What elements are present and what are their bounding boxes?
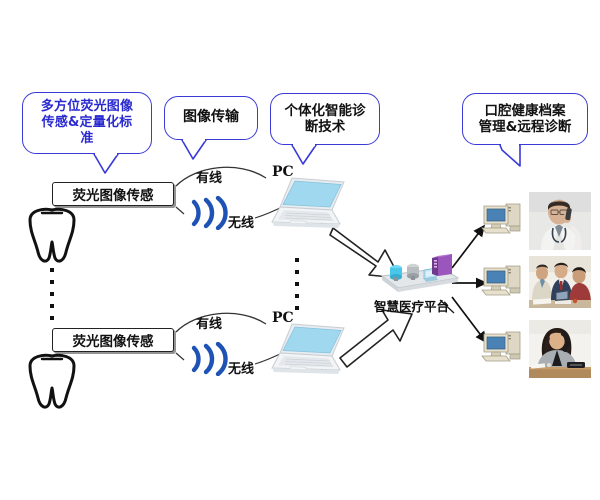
wireless-signal-icon [186, 196, 230, 234]
platform-label: 智慧医疗平台 [374, 296, 449, 315]
callout-line: 传感&定量化标 [42, 115, 133, 130]
desktop-computer-icon [480, 328, 524, 372]
callout-tail [498, 144, 520, 162]
callout-tail [180, 139, 202, 157]
connector-layer [0, 0, 600, 500]
group-consultation-photo [529, 256, 591, 308]
desktop-computer-icon [480, 200, 524, 244]
tooth-icon [22, 352, 82, 418]
callout-text: 口腔健康档案 管理&远程诊断 [479, 103, 572, 136]
wired-label-bottom: 有线 [196, 313, 222, 332]
wireless-signal-icon [186, 342, 230, 380]
woman-on-telephone-photo [529, 320, 591, 378]
sensor-label-box: 荧光图像传感 [52, 182, 174, 206]
sensor-label-box: 荧光图像传感 [52, 328, 174, 352]
doctor-on-phone-photo [529, 192, 591, 250]
callout-text: 图像传输 [183, 109, 239, 126]
callout-line: 口腔健康档案 [485, 103, 566, 119]
laptop-icon [266, 174, 348, 240]
sensor-label-text: 荧光图像传感 [73, 330, 154, 350]
callout-intelligent-diagnosis: 个体化智能诊 断技术 [270, 93, 380, 145]
callout-tail [92, 153, 114, 171]
callout-line: 管理&远程诊断 [479, 119, 572, 135]
sensor-label-text: 荧光图像传感 [73, 184, 154, 204]
callout-tail [290, 144, 312, 162]
callout-line: 多方位荧光图像 [41, 99, 133, 114]
wireless-label-bottom: 无线 [228, 358, 254, 377]
tooth-icon [22, 206, 82, 272]
pc-label-top: PC [272, 164, 294, 180]
laptop-icon [266, 320, 348, 386]
callout-text: 个体化智能诊 断技术 [285, 103, 366, 136]
callout-line: 断技术 [305, 119, 346, 135]
diagram-canvas: 荧光图像传感 荧光图像传感 有线 无线 有线 无线 PC PC 智慧医疗平台 多… [0, 0, 600, 500]
callout-health-record-management: 口腔健康档案 管理&远程诊断 [462, 93, 588, 145]
callout-line: 准 [80, 131, 93, 146]
wired-label-top: 有线 [196, 167, 222, 186]
pc-label-bottom: PC [272, 310, 294, 326]
smart-medical-platform-icon [368, 248, 460, 302]
callout-multi-angle-sensing: 多方位荧光图像 传感&定量化标 准 [22, 92, 152, 154]
callout-image-transmission: 图像传输 [164, 96, 258, 140]
callout-text: 多方位荧光图像 传感&定量化标 准 [41, 99, 133, 147]
callout-line: 个体化智能诊 [285, 103, 366, 119]
wireless-label-top: 无线 [228, 212, 254, 231]
desktop-computer-icon [480, 262, 524, 306]
